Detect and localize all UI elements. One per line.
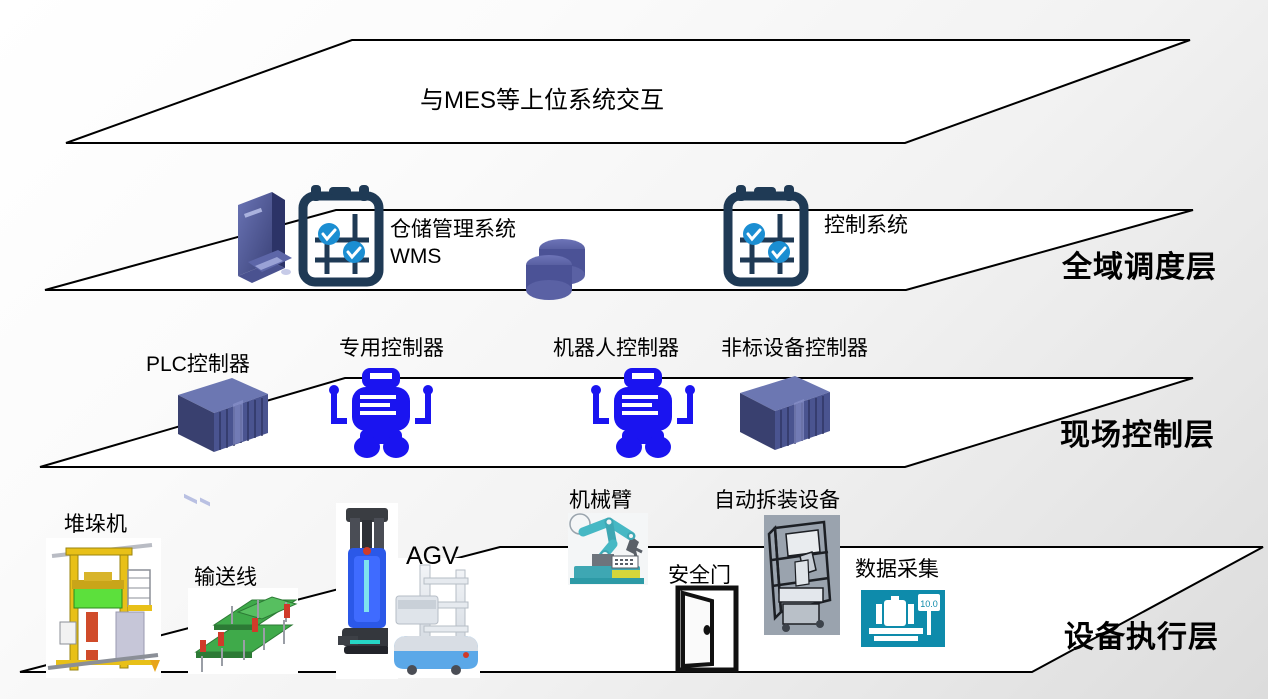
dedicated-controller-label: 专用控制器	[339, 332, 444, 362]
control-system-label: 控制系统	[824, 209, 908, 239]
robot-controller-label: 机器人控制器	[553, 332, 679, 362]
conveyor-line-label: 输送线	[194, 561, 257, 591]
wms-label-abbrev: WMS	[390, 245, 441, 269]
interaction-layer-caption: 与MES等上位系统交互	[420, 80, 664, 115]
agv-label: AGV	[406, 542, 459, 571]
nonstandard-controller-label: 非标设备控制器	[721, 332, 868, 362]
safety-door-label: 安全门	[668, 559, 731, 589]
layer-label-field-control: 现场控制层	[1060, 410, 1215, 454]
plc-controller-label: PLC控制器	[146, 348, 250, 378]
plane-global-scheduling	[45, 210, 1193, 290]
robot-arm-label: 机械臂	[569, 484, 632, 514]
diagram-canvas: 10.0 与MES等上位系统交互 仓储管理系统 WMS 控制系统 全域调度层 P…	[0, 0, 1268, 699]
wms-label: 仓储管理系统	[390, 213, 516, 243]
plane-field-control	[40, 378, 1193, 467]
stacker-crane-label: 堆垛机	[64, 508, 127, 538]
layer-label-global-scheduling: 全域调度层	[1062, 242, 1217, 286]
layer-label-equipment-execution: 设备执行层	[1064, 612, 1219, 656]
auto-disassembly-label: 自动拆装设备	[714, 484, 840, 514]
data-acquisition-label: 数据采集	[855, 553, 939, 583]
